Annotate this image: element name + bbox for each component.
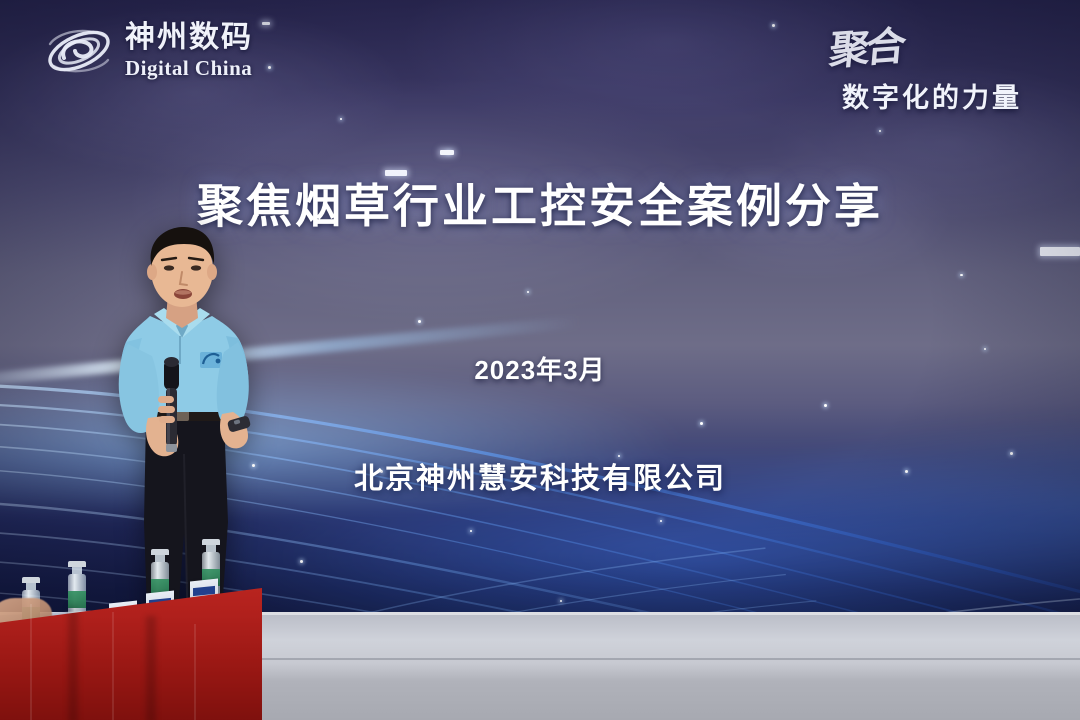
foreground-table	[0, 554, 262, 720]
spiral-swirl-icon	[42, 18, 116, 84]
event-subtitle: 数字化的力量	[842, 76, 1022, 115]
event-calligraphy: 聚合	[827, 14, 905, 77]
brand-name-cn: 神州数码	[125, 23, 253, 53]
screen-light-bar	[262, 22, 270, 25]
microphone-icon	[164, 357, 179, 452]
screen-light-bar	[385, 170, 407, 176]
brand-name-en: Digital China	[125, 58, 253, 79]
event-logo: 聚合 数字化的力量	[812, 16, 1062, 120]
screen-light-bar	[440, 150, 454, 155]
shirt-badge-icon	[200, 352, 222, 368]
brand-logo: 神州数码 Digital China	[42, 18, 253, 84]
screen-light-bar	[1040, 247, 1080, 256]
presentation-stage-photo: 聚焦烟草行业工控安全案例分享 2023年3月 北京神州慧安科技有限公司 神州数码…	[0, 0, 1080, 720]
